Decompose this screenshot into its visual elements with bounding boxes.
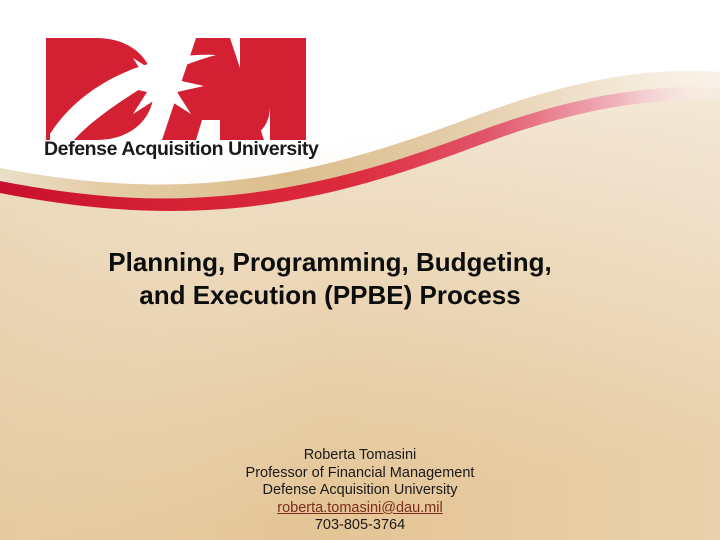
dau-logo-tagline: Defense Acquisition University [44,138,308,161]
presenter-phone: 703-805-3764 [0,517,720,535]
presentation-slide: Defense Acquisition University Planning,… [0,0,720,540]
presenter-role: Professor of Financial Management [0,465,720,483]
dau-logo-icon [44,28,308,140]
presenter-name: Roberta Tomasini [0,447,720,465]
title-line-1: Planning, Programming, Budgeting, [0,246,660,279]
presenter-organization: Defense Acquisition University [0,482,720,500]
presenter-email-link[interactable]: roberta.tomasini@dau.mil [0,500,720,518]
title-line-2: and Execution (PPBE) Process [0,279,660,312]
dau-logo: Defense Acquisition University [44,28,308,170]
presenter-contact-block: Roberta Tomasini Professor of Financial … [0,447,720,535]
slide-title: Planning, Programming, Budgeting, and Ex… [0,246,720,312]
